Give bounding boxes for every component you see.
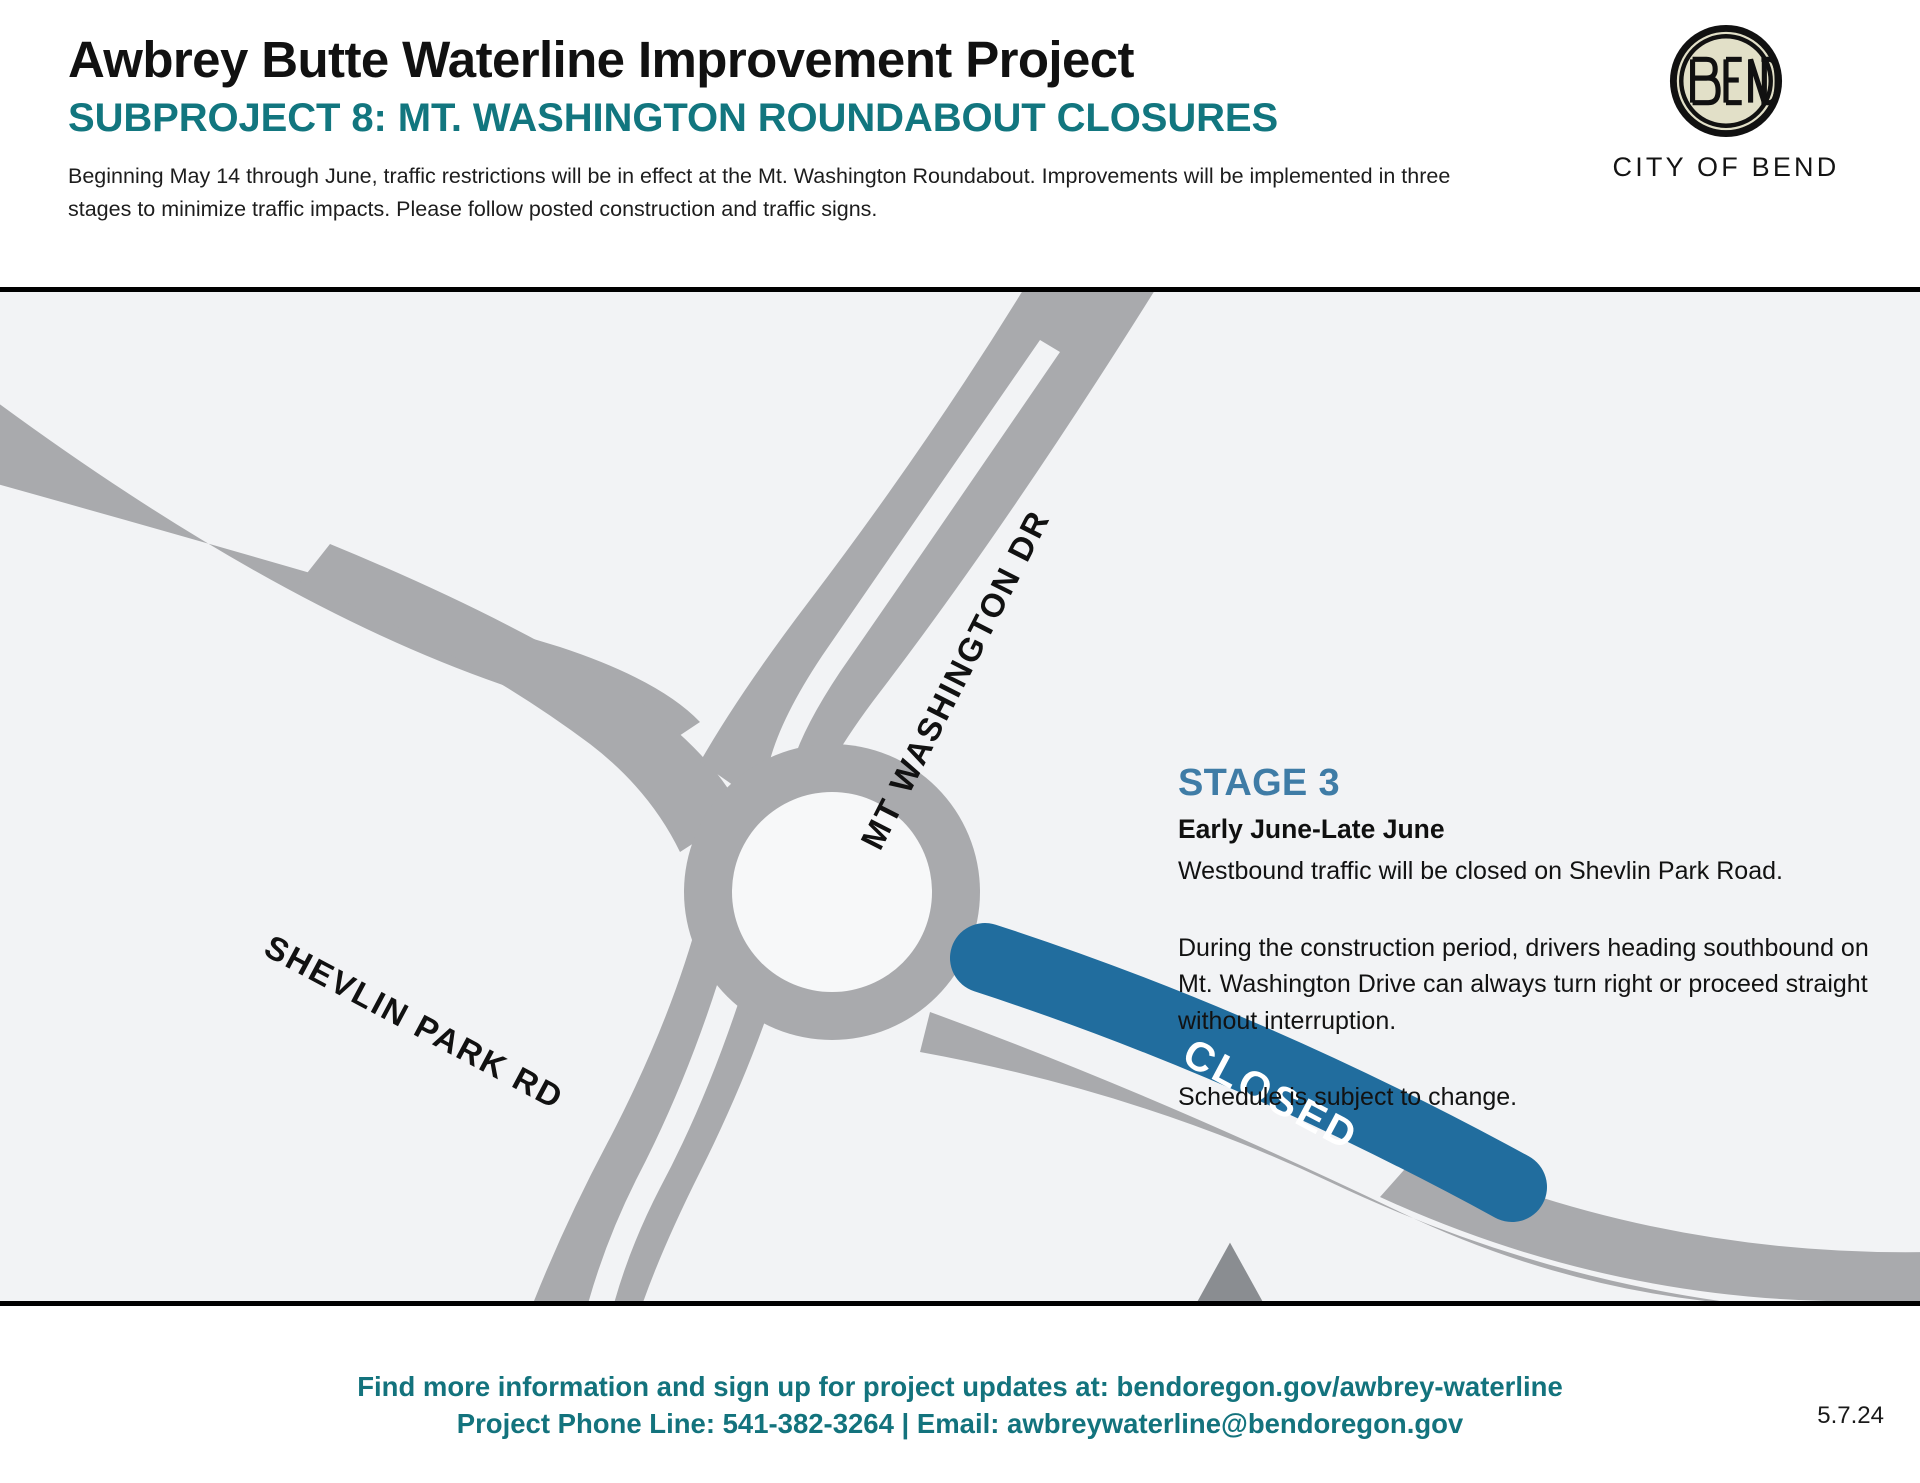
page-footer: Find more information and sign up for pr… <box>0 1306 1920 1483</box>
north-arrow: N <box>270 1207 360 1301</box>
stage-line-3: Schedule is subject to change. <box>1178 1079 1878 1116</box>
roundabout-map: MT WASHINGTON DR SHEVLIN PARK RD CLOSED … <box>0 292 1920 1301</box>
date-stamp: 5.7.24 <box>1817 1402 1884 1430</box>
stage-date-range: Early June-Late June <box>1178 814 1878 845</box>
footer-contact-line[interactable]: Project Phone Line: 541-382-3264 | Email… <box>0 1405 1920 1442</box>
map-label-shevlin-park-rd: SHEVLIN PARK RD <box>259 928 570 1117</box>
city-of-bend-logo: CITY OF BEND <box>1596 22 1856 183</box>
stage-info-panel: STAGE 3 Early June-Late June Westbound t… <box>1178 762 1878 1116</box>
stage-heading: STAGE 3 <box>1178 762 1878 805</box>
page-title: Awbrey Butte Waterline Improvement Proje… <box>68 32 1568 87</box>
page-subtitle: SUBPROJECT 8: MT. WASHINGTON ROUNDABOUT … <box>68 96 1568 140</box>
intro-paragraph: Beginning May 14 through June, traffic r… <box>68 160 1488 225</box>
header-text-block: Awbrey Butte Waterline Improvement Proje… <box>68 32 1568 247</box>
logo-wordmark: CITY OF BEND <box>1596 152 1856 183</box>
footer-info-line[interactable]: Find more information and sign up for pr… <box>0 1306 1920 1405</box>
bend-seal-icon <box>1667 22 1785 140</box>
page-header: Awbrey Butte Waterline Improvement Proje… <box>0 0 1920 287</box>
stage-line-2: During the construction period, drivers … <box>1178 930 1878 1040</box>
stage-line-1: Westbound traffic will be closed on Shev… <box>1178 853 1878 890</box>
north-arrow-triangle-icon <box>1046 1243 1414 1301</box>
road-shevlin-park-west-second <box>300 544 742 852</box>
